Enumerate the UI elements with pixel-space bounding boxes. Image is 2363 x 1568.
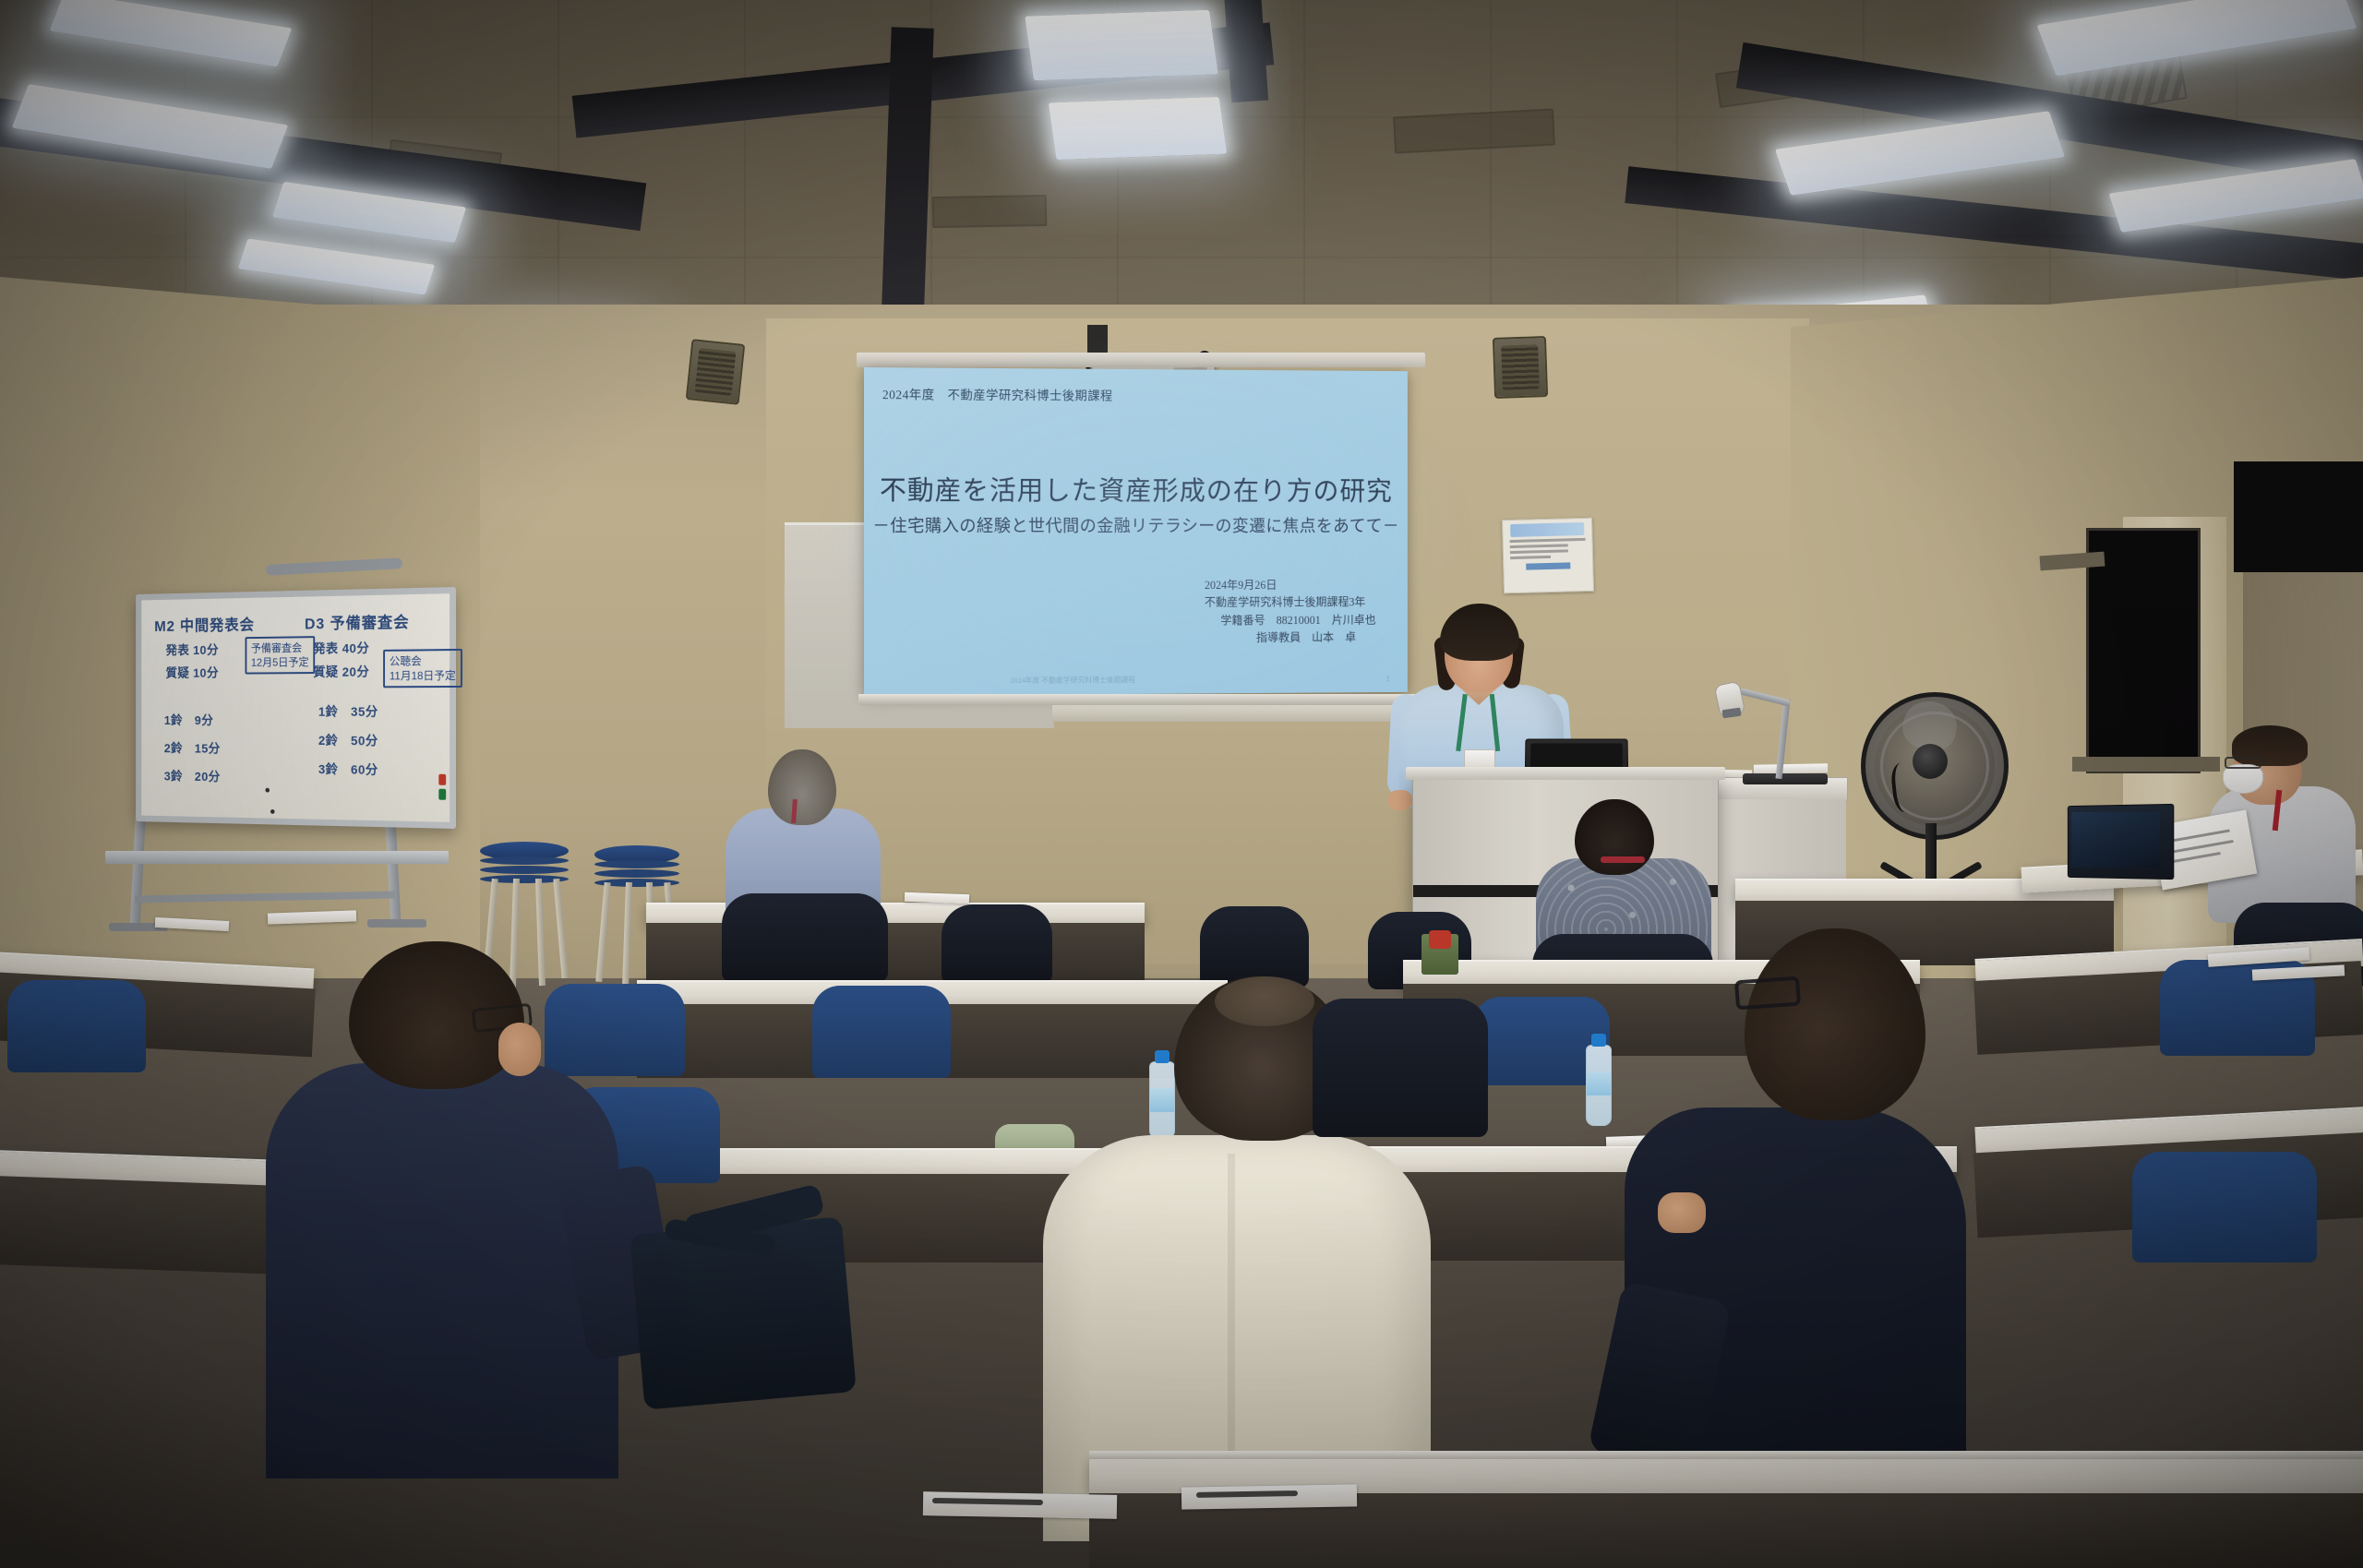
ceiling-beam [1224,0,1268,102]
notice-poster [1502,518,1594,594]
bottle-label [1150,1088,1174,1112]
whiteboard-magnet[interactable] [438,789,446,800]
whiteboard-foot [367,919,426,928]
stool-leg [553,879,568,978]
poster-footer [1526,562,1570,569]
slide-subtitle: －住宅購入の経験と世代間の金融リテラシーの変遷に焦点をあてて－ [864,513,1408,537]
whiteboard-left-bell: 1鈴 9分 [164,712,213,729]
whiteboard-right-bell: 3鈴 60分 [318,760,378,778]
whiteboard-marker-dot [265,788,270,793]
laptop-screen [2071,812,2160,868]
slide-header: 2024年度 不動産学研究科博士後期課程 [882,384,1113,403]
whiteboard-right-box: 公聴会 11月18日予定 [383,649,462,688]
slide-meta-date: 2024年9月26日 [1205,577,1376,594]
chair[interactable] [7,980,146,1072]
whiteboard-left-box: 予備審査会 12月5日予定 [246,636,316,675]
document-camera-base [1743,773,1828,784]
desk-edge [1089,1451,2363,1459]
water-bottle [1586,1045,1612,1126]
audience-hair-thinning [1215,976,1314,1026]
slide-meta: 2024年9月26日 不動産学研究科博士後期課程3年 学籍番号 88210001… [1205,577,1376,648]
wall-speaker [686,339,746,405]
window-sill [2072,757,2220,772]
chair[interactable] [2132,1152,2317,1263]
chair[interactable] [1200,906,1309,987]
handout-papers [923,1491,1117,1519]
poster-heading [1510,522,1584,537]
poster-line [1510,544,1568,548]
whiteboard-right-box-line: 公聴会 [390,653,456,669]
whiteboard-left-title: M2 中間発表会 [154,612,255,636]
whiteboard-surface: M2 中間発表会 発表 10分 質疑 10分 予備審査会 12月5日予定 1鈴 … [141,593,450,822]
slide-footer: 2024年度 不動産学研究科博士後期課程 [1011,675,1135,686]
whiteboard-right-bell: 2鈴 50分 [318,731,378,749]
audience-ear [498,1023,541,1076]
fluorescent-light [1025,10,1218,81]
screen-bottom-bar [858,694,1423,705]
whiteboard-marker-tray [105,851,449,864]
wall-speaker [1493,336,1548,399]
whiteboard-right-line: 質疑 20分 [313,663,369,681]
slide-title: 不動産を活用した資産形成の在り方の研究 [864,469,1408,509]
whiteboard-right-title: D3 予備審査会 [305,609,410,633]
stool-seat [480,866,569,874]
whiteboard-right-bell: 1鈴 35分 [318,702,378,721]
stool-leg [510,879,520,987]
seminar-room-photo: 2024年度 不動産学研究科博士後期課程 不動産を活用した資産形成の在り方の研究… [0,0,2363,1568]
slide-page-number: 1 [1386,675,1390,683]
water-bottle [1149,1061,1175,1139]
presenter-hand [1388,790,1412,810]
audience-head [1575,799,1654,875]
whiteboard-left-bell: 3鈴 20分 [164,767,221,785]
projection-screen: 2024年度 不動産学研究科博士後期課程 不動産を活用した資産形成の在り方の研究… [864,367,1408,696]
stool-leg [595,882,610,982]
bottle-cap [1591,1034,1606,1047]
fluorescent-light [1049,97,1228,160]
chair[interactable] [812,986,951,1078]
stool-seat [480,856,569,865]
pedestal-fan[interactable] [1837,685,2021,888]
eyeglasses-icon [1734,976,1801,1011]
stool-seat [594,860,679,868]
desk-front-panel [646,923,1145,980]
whiteboard-right-box-line: 11月18日予定 [390,668,456,684]
podium-top [1406,767,1725,780]
whiteboard-left-line: 質疑 10分 [166,664,219,681]
bottle-label [1587,1071,1611,1095]
presentation-slide: 2024年度 不動産学研究科博士後期課程 不動産を活用した資産形成の在り方の研究… [864,367,1408,696]
audience-hand [1658,1192,1706,1233]
slide-meta-student: 学籍番号 88210001 片川卓也 [1205,612,1376,630]
eyeglasses-icon [2225,757,2261,769]
chair[interactable] [722,893,888,982]
chair[interactable] [1313,999,1488,1137]
stool-seat [594,869,679,878]
poster-line [1510,538,1586,543]
screen-housing [857,353,1425,367]
audience-head [768,749,836,825]
whiteboard-marker-dot [270,809,275,814]
red-cap-item [1429,930,1451,949]
poster-line [1510,549,1568,554]
slide-meta-program: 不動産学研究科博士後期課程3年 [1205,594,1376,613]
whiteboard-left-line: 発表 10分 [166,640,219,659]
paper-stack [1754,763,1828,773]
chair[interactable] [942,904,1052,984]
poster-line [1510,556,1551,559]
whiteboard-magnet[interactable] [438,774,446,785]
ceiling-vent [932,195,1048,228]
whiteboard-left-box-line: 予備審査会 [251,640,309,655]
whiteboard-frame: M2 中間発表会 発表 10分 質疑 10分 予備審査会 12月5日予定 1鈴 … [136,587,456,829]
whiteboard-left-box-line: 12月5日予定 [251,655,309,670]
lanyard-strap [1601,856,1645,863]
stool-leg [535,879,546,986]
stool-leg [622,882,632,989]
desk-row-far [646,903,1145,925]
night-window [2234,461,2363,572]
slide-meta-advisor: 指導教員 山本 卓 [1205,629,1376,648]
audience-torso [266,1063,618,1478]
audience-head [1745,928,1925,1120]
whiteboard-right-line: 発表 40分 [313,639,369,657]
bottle-cap [1155,1050,1170,1063]
whiteboard-left-bell: 2鈴 15分 [164,739,221,757]
mobile-whiteboard: M2 中間発表会 発表 10分 質疑 10分 予備審査会 12月5日予定 1鈴 … [111,569,452,845]
chair[interactable] [545,984,685,1076]
